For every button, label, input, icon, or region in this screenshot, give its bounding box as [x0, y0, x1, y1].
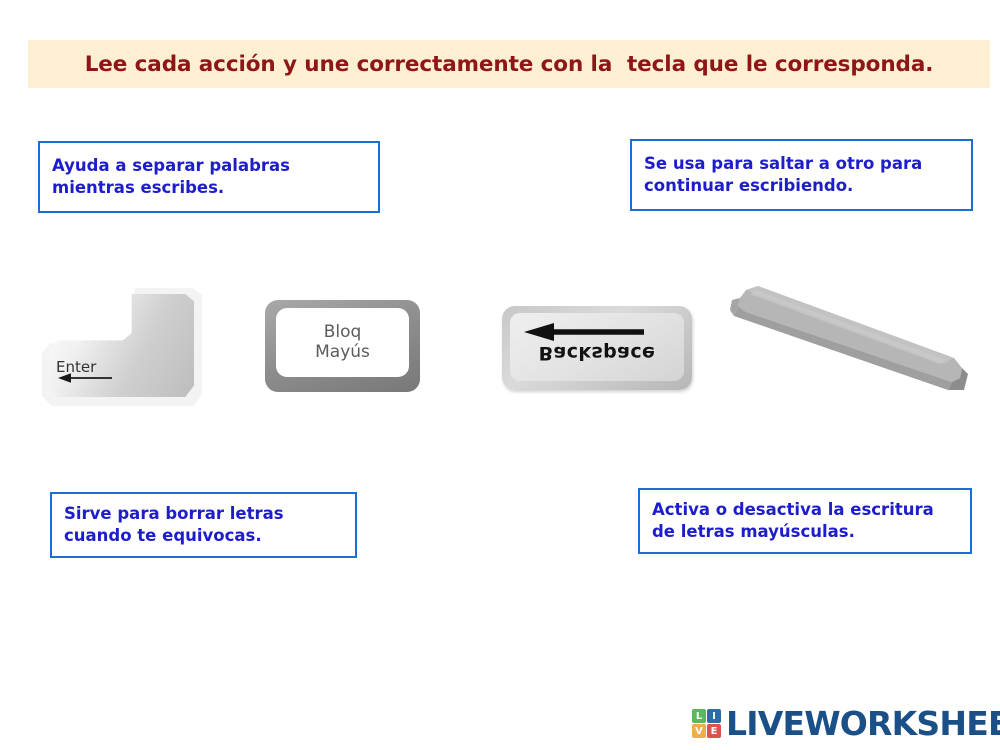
logo-wordmark: LIVEWORKSHEETS — [726, 704, 1000, 743]
left-arrow-icon — [524, 323, 646, 341]
return-arrow-icon — [58, 373, 114, 383]
prompt-box-hyphen[interactable]: Ayuda a separar palabras mientras escrib… — [38, 141, 380, 213]
caps-lock-key[interactable]: Bloq Mayús — [265, 300, 420, 392]
space-bar-key[interactable] — [716, 268, 978, 404]
prompt-box-enter[interactable]: Se usa para saltar a otro para continuar… — [630, 139, 973, 211]
title-banner: Lee cada acción y une correctamente con … — [28, 40, 990, 88]
liveworksheets-logo: L I V E LIVEWORKSHEETS — [692, 704, 1000, 743]
prompt-text-enter: Se usa para saltar a otro para continuar… — [644, 153, 922, 197]
logo-tile-e: E — [707, 724, 721, 738]
logo-tile-i: I — [707, 709, 721, 723]
logo-tile-v: V — [692, 724, 706, 738]
prompt-box-backspace[interactable]: Sirve para borrar letras cuando te equiv… — [50, 492, 357, 558]
enter-key[interactable]: Enter — [42, 288, 202, 406]
prompt-box-caps-lock[interactable]: Activa o desactiva la escritura de letra… — [638, 488, 972, 554]
backspace-key[interactable]: Backspace — [502, 306, 692, 390]
worksheet-page: Lee cada acción y une correctamente con … — [0, 0, 1000, 750]
logo-mark-icon: L I V E — [692, 709, 721, 738]
prompt-text-backspace: Sirve para borrar letras cuando te equiv… — [64, 503, 284, 547]
prompt-text-caps-lock: Activa o desactiva la escritura de letra… — [652, 499, 934, 543]
backspace-key-label: Backspace — [502, 342, 692, 364]
caps-lock-key-label: Bloq Mayús — [265, 300, 420, 392]
page-title: Lee cada acción y une correctamente con … — [85, 52, 934, 77]
prompt-text-hyphen: Ayuda a separar palabras mientras escrib… — [52, 155, 290, 199]
logo-tile-l: L — [692, 709, 706, 723]
space-bar-shape — [716, 268, 978, 404]
